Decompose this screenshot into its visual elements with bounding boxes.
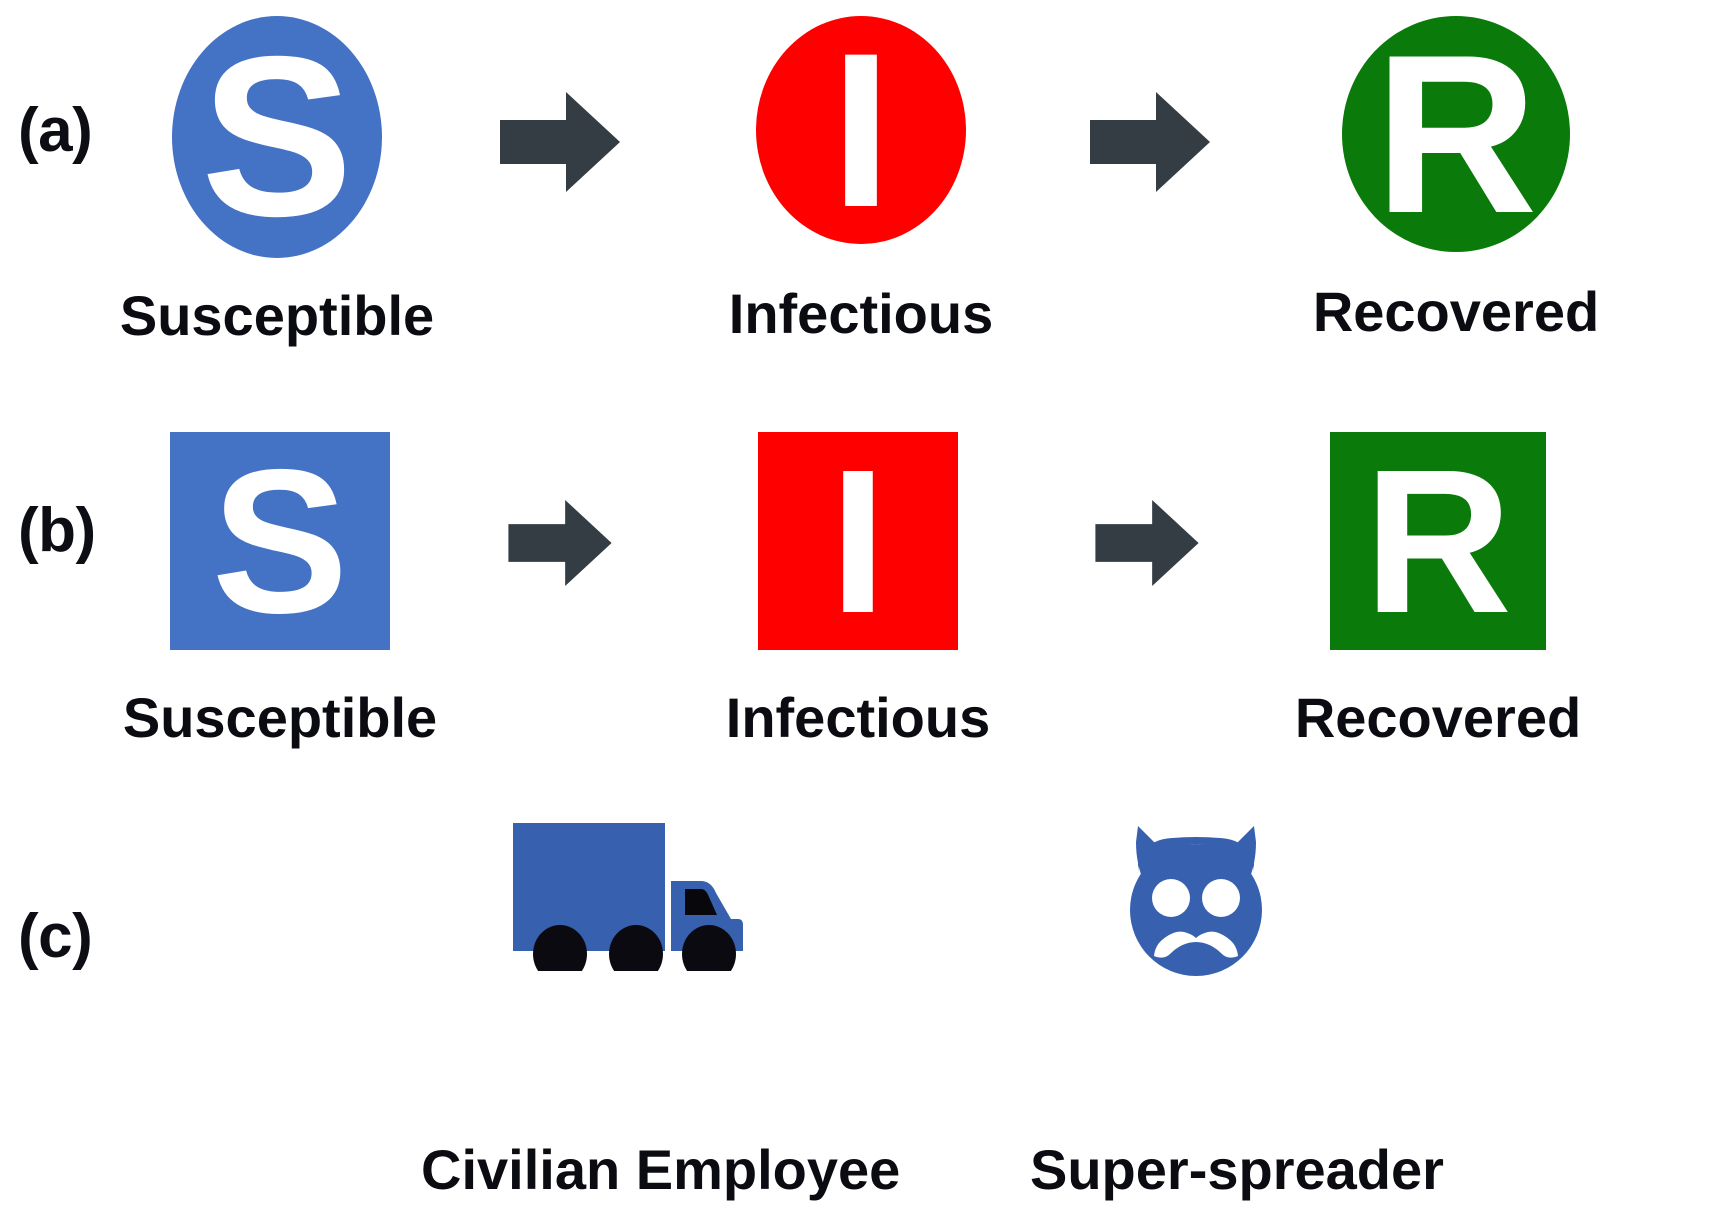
- node-b-recovered: R Recovered: [1330, 432, 1546, 746]
- arrow-right-icon-a2: [1090, 92, 1210, 192]
- square-infectious: I: [758, 432, 958, 650]
- panel-letter-b: (b): [18, 500, 96, 562]
- label-super-spreader: Super-spreader: [1030, 1142, 1444, 1198]
- circle-recovered: R: [1342, 16, 1570, 252]
- label-recovered: Recovered: [1313, 284, 1599, 340]
- arrow-right-icon-a1: [500, 92, 620, 192]
- truck-icon: [505, 823, 745, 971]
- label-civilian-employee: Civilian Employee: [421, 1142, 900, 1198]
- node-a-recovered: R Recovered: [1340, 16, 1572, 340]
- glyph-letter-r: R: [1364, 439, 1512, 644]
- sir-model-figure: (a) S Susceptible I Infectious R Recover…: [0, 0, 1730, 1231]
- panel-letter-c: (c): [18, 906, 92, 968]
- square-recovered: R: [1330, 432, 1546, 650]
- node-a-susceptible: S Susceptible: [168, 16, 386, 344]
- label-susceptible: Susceptible: [120, 288, 434, 344]
- label-infectious: Infectious: [726, 690, 990, 746]
- square-susceptible: S: [170, 432, 390, 650]
- glyph-letter-i: I: [830, 20, 891, 240]
- node-b-susceptible: S Susceptible: [170, 432, 390, 746]
- label-infectious: Infectious: [729, 286, 993, 342]
- arrow-right-icon-b1: [508, 500, 612, 586]
- glyph-letter-i: I: [830, 439, 887, 644]
- devil-face-icon: [1124, 822, 1268, 978]
- arrow-right-icon-b2: [1095, 500, 1199, 586]
- node-a-infectious: I Infectious: [752, 16, 970, 342]
- circle-infectious: I: [756, 16, 966, 244]
- circle-susceptible: S: [172, 16, 382, 258]
- node-b-infectious: I Infectious: [758, 432, 958, 746]
- panel-letter-a: (a): [18, 100, 92, 162]
- glyph-letter-s: S: [201, 23, 353, 251]
- label-recovered: Recovered: [1295, 690, 1581, 746]
- label-susceptible: Susceptible: [123, 690, 437, 746]
- glyph-letter-r: R: [1374, 21, 1537, 247]
- glyph-letter-s: S: [212, 439, 349, 644]
